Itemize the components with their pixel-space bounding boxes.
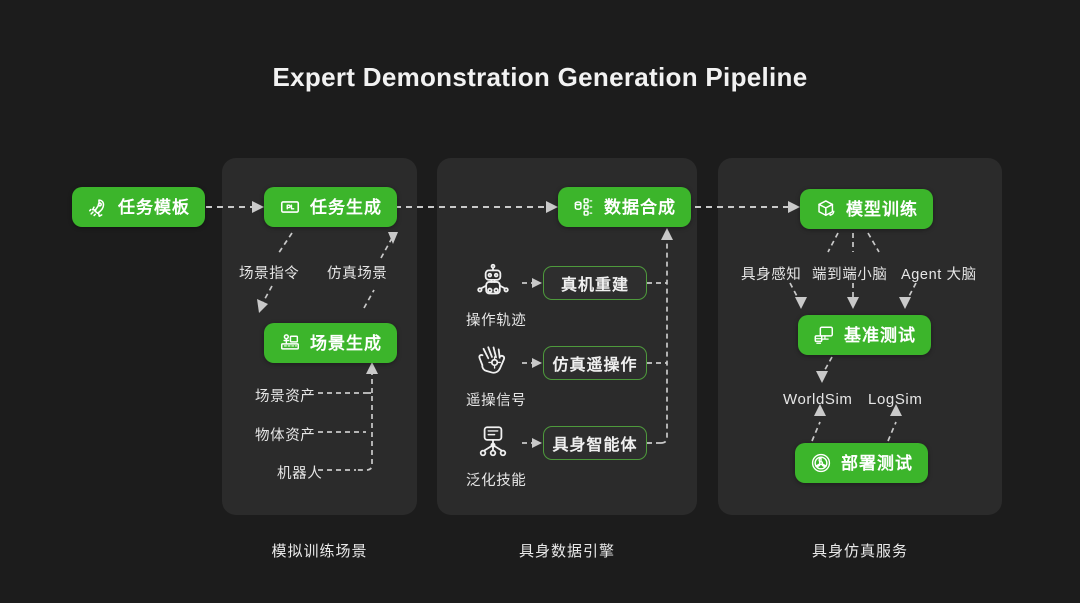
edge-label-agent-brain: Agent 大脑 <box>901 263 977 284</box>
node-deployment-test[interactable]: 部署测试 <box>795 443 928 483</box>
node-label: 部署测试 <box>841 455 913 472</box>
node-label: 数据合成 <box>604 199 676 216</box>
input-label-scene-asset: 场景资产 <box>255 385 315 406</box>
source-label-generalization-skill: 泛化技能 <box>466 469 526 490</box>
node-task-generation[interactable]: 任务生成 <box>264 187 397 227</box>
page-title: Expert Demonstration Generation Pipeline <box>0 62 1080 93</box>
node-data-synthesis[interactable]: 数据合成 <box>558 187 691 227</box>
robot-icon <box>472 262 514 304</box>
benchmark-screen-icon <box>813 324 835 346</box>
cube-refresh-icon <box>815 198 837 220</box>
rocket-icon <box>87 196 109 218</box>
node-label: 任务生成 <box>310 199 382 216</box>
edge-label-logsim: LogSim <box>868 391 922 408</box>
pipeline-diagram: Expert Demonstration Generation Pipeline <box>0 0 1080 603</box>
glove-icon <box>472 342 514 384</box>
gear-circle-icon <box>810 452 832 474</box>
node-label: 任务模板 <box>118 199 190 216</box>
edge-label-sim-scene: 仿真场景 <box>327 262 387 283</box>
input-label-robot: 机器人 <box>277 462 322 483</box>
workstation-icon <box>279 332 301 354</box>
node-benchmark-test[interactable]: 基准测试 <box>798 315 931 355</box>
source-label-teleop-signal: 遥操信号 <box>466 389 526 410</box>
data-sync-icon <box>573 196 595 218</box>
node-label: 基准测试 <box>844 327 916 344</box>
edge-label-scene-instruction: 场景指令 <box>239 262 299 283</box>
frame-icon <box>279 196 301 218</box>
caption-sim-training-scene: 模拟训练场景 <box>222 540 417 561</box>
input-label-object-asset: 物体资产 <box>255 424 315 445</box>
edge-label-end-to-end-cerebellum: 端到端小脑 <box>812 263 888 284</box>
agent-network-icon <box>472 422 514 464</box>
node-label: 模型训练 <box>846 201 918 218</box>
node-label: 场景生成 <box>310 335 382 352</box>
box-sim-teleoperation[interactable]: 仿真遥操作 <box>543 346 647 380</box>
box-embodied-agent[interactable]: 具身智能体 <box>543 426 647 460</box>
caption-embodied-sim-service: 具身仿真服务 <box>718 540 1002 561</box>
node-scene-generation[interactable]: 场景生成 <box>264 323 397 363</box>
edge-label-embodied-perception: 具身感知 <box>741 263 801 284</box>
source-label-operation-trajectory: 操作轨迹 <box>466 309 526 330</box>
node-task-template[interactable]: 任务模板 <box>72 187 205 227</box>
edge-label-worldsim: WorldSim <box>783 391 853 408</box>
box-real-machine-reconstruction[interactable]: 真机重建 <box>543 266 647 300</box>
node-model-training[interactable]: 模型训练 <box>800 189 933 229</box>
caption-embodied-data-engine: 具身数据引擎 <box>437 540 697 561</box>
